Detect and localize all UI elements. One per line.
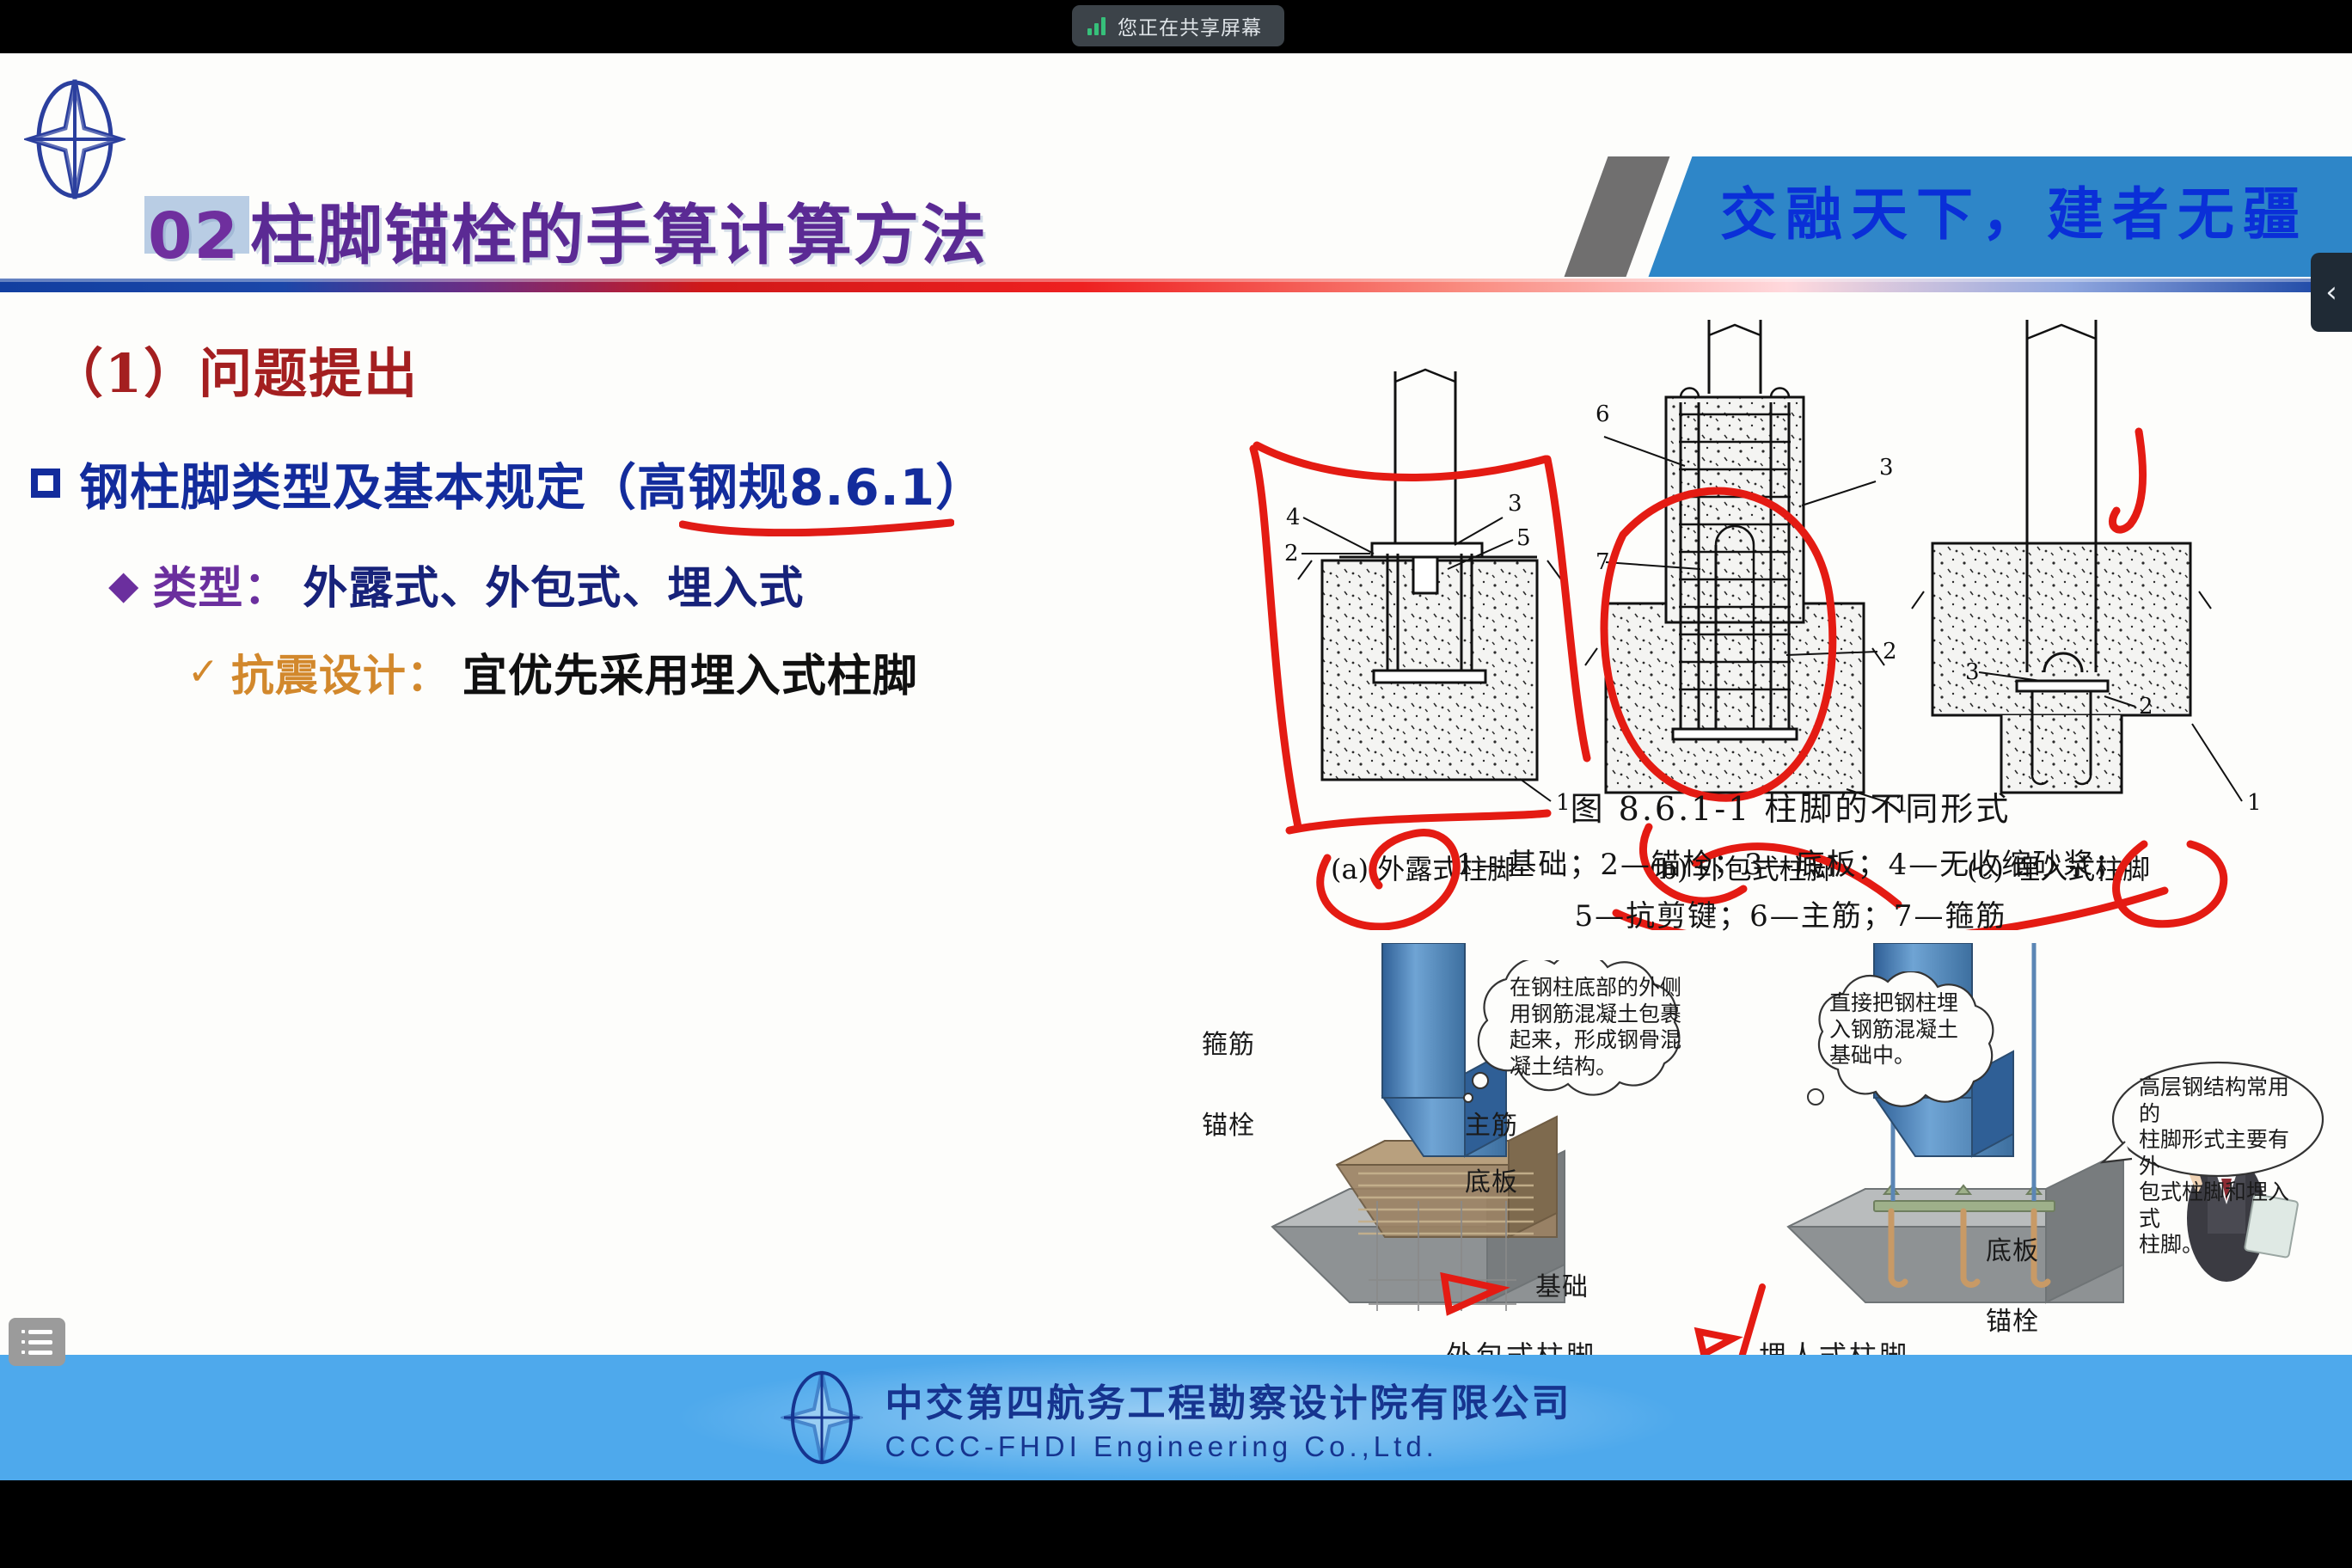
bullet-label: 钢柱脚类型及基本规定（高钢规8.6.1） <box>79 447 986 519</box>
bullet-types-label: 类型： <box>152 552 289 616</box>
signal-bars-icon <box>1087 16 1106 35</box>
svg-text:4: 4 <box>1286 505 1301 530</box>
bullet-item-rule-types: 钢柱脚类型及基本规定（高钢规8.6.1） <box>31 447 986 519</box>
screen-share-label: 您正在共享屏幕 <box>1118 11 1262 40</box>
svg-text:5: 5 <box>1516 525 1531 551</box>
bottom-letterbox <box>0 1480 2352 1568</box>
label-anchor-bolt-left: 锚栓 <box>1202 1104 1255 1142</box>
figure-caption: 图 8.6.1-1 柱脚的不同形式 <box>1245 782 2337 830</box>
column-base-detail-figure: 4 2 3 5 1 (a) 外露式柱脚 <box>1245 311 2337 930</box>
presentation-slide: 02 柱脚锚栓的手算计算方法 交融天下，建者无疆 （1）问题提出 钢柱脚类型及基… <box>0 53 2352 1480</box>
svg-text:2: 2 <box>2139 694 2153 720</box>
svg-text:3: 3 <box>1879 455 1894 481</box>
check-bullet-icon: ✓ <box>187 653 219 691</box>
page-title: 柱脚锚栓的手算计算方法 <box>250 182 988 277</box>
list-menu-icon[interactable] <box>9 1318 65 1366</box>
sidebar-collapse-button[interactable]: ‹ <box>2311 253 2352 332</box>
banner-slogan: 交融天下，建者无疆 <box>1720 168 2308 251</box>
label-foundation: 基础 <box>1535 1265 1589 1303</box>
compass-logo-icon <box>781 1367 863 1468</box>
diamond-bullet-icon: ◆ <box>108 565 138 604</box>
bullet-item-types: ◆ 类型： 外露式、外包式、埋入式 <box>108 552 804 616</box>
slide-footer: 中交第四航务工程勘察设计院有限公司 CCCC-FHDI Engineering … <box>0 1355 2352 1480</box>
speech-bubble-3-text: 高层钢结构常用的柱脚形式主要有外包式柱脚和埋入式柱脚。 <box>2139 1075 2302 1259</box>
speech-bubble-2-text: 直接把钢柱埋入钢筋混凝土基础中。 <box>1829 990 2018 1069</box>
header-rule-highlight <box>0 279 2352 282</box>
red-underline-annotation <box>679 514 954 536</box>
label-base-plate-mid: 底板 <box>1465 1161 1518 1198</box>
bullet-types-value: 外露式、外包式、埋入式 <box>303 552 804 616</box>
label-stirrup-left: 箍筋 <box>1202 1023 1255 1061</box>
slide-header: 02 柱脚锚栓的手算计算方法 交融天下，建者无疆 <box>0 53 2352 230</box>
figure-legend-line-2: 5—抗剪键；6—主筋；7—箍筋 <box>1245 892 2337 934</box>
screen-share-indicator[interactable]: 您正在共享屏幕 <box>1072 5 1284 46</box>
svg-text:6: 6 <box>1596 401 1610 427</box>
bullet-item-seismic: ✓ 抗震设计： 宜优先采用埋入式柱脚 <box>187 640 918 704</box>
bullet-seismic-label: 抗震设计： <box>231 641 450 703</box>
bullet-seismic-value: 宜优先采用埋入式柱脚 <box>462 640 918 704</box>
figure-legend-line-1: 1—基础；2—锚栓；3—底板；4—无收缩砂浆； <box>1245 841 2337 883</box>
slogan-banner: 交融天下，建者无疆 <box>1617 156 2352 277</box>
section-number: 02 <box>148 199 240 273</box>
square-bullet-icon <box>31 469 60 498</box>
svg-text:2: 2 <box>1284 541 1299 567</box>
chevron-left-icon: ‹ <box>2325 278 2337 307</box>
svg-text:3: 3 <box>1508 491 1522 517</box>
screen-share-bar: 您正在共享屏幕 <box>0 0 2352 53</box>
svg-text:2: 2 <box>1883 639 1897 665</box>
svg-text:3: 3 <box>1965 659 1980 685</box>
section-heading: （1）问题提出 <box>50 330 419 407</box>
slide-title-group: 02 柱脚锚栓的手算计算方法 <box>148 182 988 277</box>
company-name-cn: 中交第四航务工程勘察设计院有限公司 <box>885 1372 1572 1427</box>
speech-bubble-1-text: 在钢柱底部的外侧用钢筋混凝土包裹起来，形成钢骨混凝土结构。 <box>1510 975 1750 1080</box>
compass-logo-icon <box>24 75 126 204</box>
label-base-plate-right: 底板 <box>1986 1229 2039 1267</box>
label-anchor-bolt-right: 锚栓 <box>1986 1300 2039 1338</box>
company-name-en: CCCC-FHDI Engineering Co.,Ltd. <box>885 1430 1572 1463</box>
